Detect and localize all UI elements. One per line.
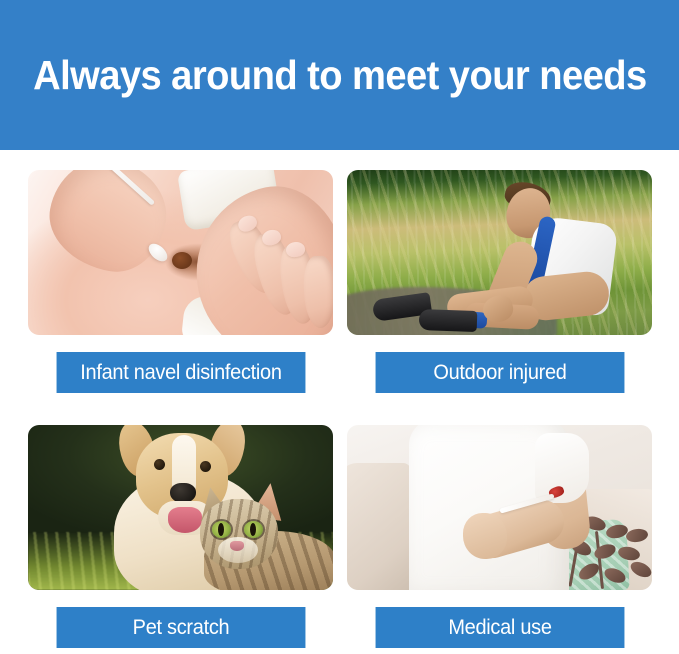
outdoor-injured-photo — [347, 170, 652, 335]
plant-leaf — [625, 528, 649, 544]
card-label-outdoor-injured: Outdoor injured — [375, 352, 624, 393]
dog-tongue-shape — [168, 507, 202, 533]
plant-leaf — [617, 545, 641, 562]
card-label-wrapper: Medical use — [347, 607, 652, 648]
plant-leaf — [602, 565, 627, 585]
plant-leaf — [628, 559, 652, 580]
card-label-wrapper: Outdoor injured — [347, 352, 652, 393]
card-label-wrapper: Infant navel disinfection — [28, 352, 333, 393]
page-title: Always around to meet your needs — [33, 55, 647, 96]
dog-eye-shape — [154, 459, 165, 470]
use-case-card-infant-navel-disinfection[interactable]: Infant navel disinfection — [28, 170, 333, 393]
plant-stem — [595, 531, 604, 589]
header-banner: Always around to meet your needs — [0, 0, 679, 150]
card-label-wrapper: Pet scratch — [28, 607, 333, 648]
cat-pupil-shape — [250, 523, 256, 536]
navel-detail — [172, 252, 192, 269]
cat-nose-shape — [230, 541, 244, 551]
cotton-swab-tip — [145, 240, 170, 264]
use-case-grid: Infant navel disinfection — [0, 150, 679, 654]
product-feature-page: Always around to meet your needs — [0, 0, 679, 654]
hand-shape — [463, 513, 507, 559]
pet-scratch-photo — [28, 425, 333, 590]
cat-pupil-shape — [218, 523, 224, 536]
medical-use-photo — [347, 425, 652, 590]
use-case-card-medical-use[interactable]: Medical use — [347, 425, 652, 648]
running-shoe-shape — [419, 309, 478, 332]
card-label-medical-use: Medical use — [375, 607, 624, 648]
dog-nose-shape — [170, 483, 196, 503]
dog-eye-shape — [200, 461, 211, 472]
left-hand-shape — [41, 170, 174, 279]
use-case-card-outdoor-injured[interactable]: Outdoor injured — [347, 170, 652, 393]
infant-navel-disinfection-photo — [28, 170, 333, 335]
use-case-card-pet-scratch[interactable]: Pet scratch — [28, 425, 333, 648]
sofa-armrest-shape — [347, 463, 411, 590]
card-label-infant-navel-disinfection: Infant navel disinfection — [56, 352, 305, 393]
card-label-pet-scratch: Pet scratch — [56, 607, 305, 648]
